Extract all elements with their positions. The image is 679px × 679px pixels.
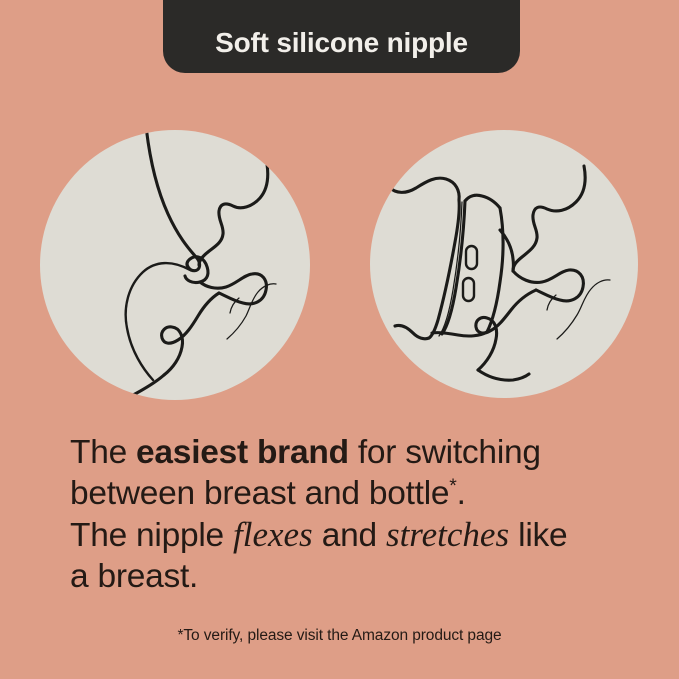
bottle-feeding-illustration <box>370 130 638 398</box>
breastfeeding-illustration <box>40 130 310 400</box>
headline-l3-part3: like <box>509 517 567 554</box>
headline-l1-part1: The <box>70 434 136 471</box>
headline-l3-part1: The nipple <box>70 517 233 554</box>
footnote-marker: * <box>449 475 456 497</box>
headline-italic-flexes: flexes <box>233 515 313 554</box>
headline-line-4: a breast. <box>70 556 630 597</box>
footnote: *To verify, please visit the Amazon prod… <box>0 627 679 645</box>
headline-l4-part1: a breast. <box>70 558 198 595</box>
headline-l2-part1: between breast and bottle <box>70 475 449 512</box>
banner: Soft silicone nipple <box>163 0 520 73</box>
headline-line-1: The easiest brand for switching <box>70 432 630 473</box>
headline-l2-part2: . <box>457 475 466 512</box>
headline-line-3: The nipple flexes and stretches like <box>70 514 630 556</box>
product-infographic: Soft silicone nipple <box>0 0 679 679</box>
headline-emphasis-brand: easiest brand <box>136 434 349 471</box>
breastfeeding-line-art <box>40 130 310 400</box>
headline-l1-part2: for switching <box>349 434 541 471</box>
bottle-feeding-line-art <box>370 130 638 398</box>
headline-l3-part2: and <box>313 517 386 554</box>
banner-title: Soft silicone nipple <box>215 29 468 57</box>
headline-line-2: between breast and bottle*. <box>70 473 630 514</box>
headline-italic-stretches: stretches <box>386 515 509 554</box>
headline: The easiest brand for switching between … <box>70 432 630 597</box>
